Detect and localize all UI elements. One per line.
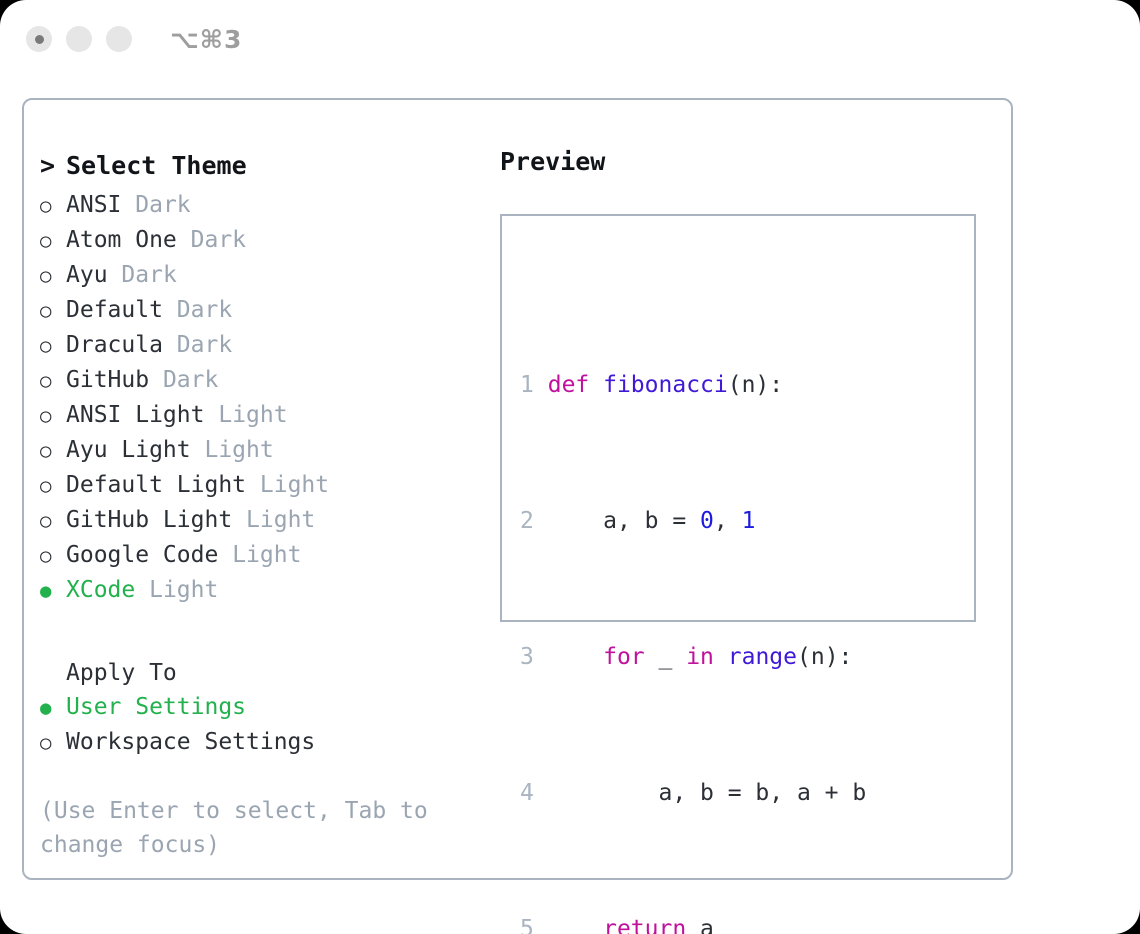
keyboard-hint-line-2: change focus) (40, 828, 440, 862)
radio-selected-icon[interactable]: ● (40, 691, 66, 725)
apply-to-option-label: Workspace Settings (66, 725, 315, 759)
line-gutter-space (534, 780, 548, 806)
code-token: , (714, 508, 742, 534)
main-panel: >Select Theme ○ANSI Dark ○Atom One Dark … (22, 98, 1013, 880)
radio-unselected-icon[interactable]: ○ (40, 504, 66, 538)
section-spacer (40, 608, 500, 656)
title-bar: ⌥⌘3 (0, 0, 1140, 78)
code-token: in (686, 644, 714, 670)
code-token: a, b = (548, 508, 700, 534)
radio-unselected-icon[interactable]: ○ (40, 726, 66, 760)
code-token: 0 (700, 508, 714, 534)
theme-spacer (191, 433, 205, 467)
radio-unselected-icon[interactable]: ○ (40, 399, 66, 433)
code-token (548, 644, 603, 670)
theme-category: Light (246, 503, 315, 537)
theme-category: Light (204, 433, 273, 467)
theme-spacer (246, 468, 260, 502)
window-controls (26, 26, 132, 52)
code-token: 1 (742, 508, 756, 534)
line-gutter-space (534, 916, 548, 934)
code-line: 5 return a (520, 912, 894, 934)
app-window: ⌥⌘3 >Select Theme ○ANSI Dark ○Atom One D… (0, 0, 1140, 934)
radio-unselected-icon[interactable]: ○ (40, 224, 66, 258)
code-token: (n): (728, 372, 783, 398)
code-token: _ (645, 644, 687, 670)
theme-spacer (204, 398, 218, 432)
code-token: a (686, 916, 714, 934)
theme-option-atom-one-dark[interactable]: ○Atom One Dark (40, 223, 500, 258)
theme-name: Dracula (66, 328, 163, 362)
line-gutter-space (534, 508, 548, 534)
theme-spacer (163, 328, 177, 362)
theme-category: Dark (121, 258, 176, 292)
code-token: def (548, 372, 603, 398)
theme-category: Light (260, 468, 329, 502)
theme-spacer (149, 363, 163, 397)
radio-unselected-icon[interactable]: ○ (40, 539, 66, 573)
code-line: 4 a, b = b, a + b (520, 776, 894, 810)
theme-name: ANSI Light (66, 398, 204, 432)
code-line: 3 for _ in range(n): (520, 640, 894, 674)
theme-option-dracula-dark[interactable]: ○Dracula Dark (40, 328, 500, 363)
theme-spacer (218, 538, 232, 572)
theme-option-github-light[interactable]: ○GitHub Light Light (40, 503, 500, 538)
theme-option-ayu-light[interactable]: ○Ayu Light Light (40, 433, 500, 468)
apply-to-option-label: User Settings (66, 690, 246, 724)
theme-option-github-dark[interactable]: ○GitHub Dark (40, 363, 500, 398)
theme-name: Ayu (66, 258, 108, 292)
code-token: range (728, 644, 797, 670)
theme-name: Default Light (66, 468, 246, 502)
radio-unselected-icon[interactable]: ○ (40, 469, 66, 503)
line-number: 4 (520, 780, 534, 806)
radio-unselected-icon[interactable]: ○ (40, 189, 66, 223)
theme-category: Dark (191, 223, 246, 257)
theme-option-xcode[interactable]: ●XCode Light (40, 573, 500, 608)
line-number: 2 (520, 508, 534, 534)
prompt-caret-icon: > (40, 146, 66, 186)
radio-unselected-icon[interactable]: ○ (40, 329, 66, 363)
keyboard-hint-line-1: (Use Enter to select, Tab to (40, 794, 440, 828)
line-gutter-space (534, 644, 548, 670)
radio-unselected-icon[interactable]: ○ (40, 259, 66, 293)
theme-name: ANSI (66, 188, 121, 222)
radio-unselected-icon[interactable]: ○ (40, 364, 66, 398)
radio-unselected-icon[interactable]: ○ (40, 294, 66, 328)
line-number: 5 (520, 916, 534, 934)
theme-spacer (177, 223, 191, 257)
theme-name: Ayu Light (66, 433, 191, 467)
apply-to-title-indent: ○ (40, 656, 66, 690)
theme-category: Dark (177, 293, 232, 327)
code-token: fibonacci (603, 372, 728, 398)
radio-unselected-icon[interactable]: ○ (40, 434, 66, 468)
theme-spacer (121, 188, 135, 222)
line-number: 1 (520, 372, 534, 398)
window-button-close[interactable] (26, 26, 52, 52)
theme-picker-column: >Select Theme ○ANSI Dark ○Atom One Dark … (40, 146, 500, 862)
theme-option-ansi-dark[interactable]: ○ANSI Dark (40, 188, 500, 223)
theme-name: Atom One (66, 223, 177, 257)
theme-name: Google Code (66, 538, 218, 572)
theme-category: Dark (163, 363, 218, 397)
code-token: for (603, 644, 645, 670)
theme-option-default-dark[interactable]: ○Default Dark (40, 293, 500, 328)
theme-name: Default (66, 293, 163, 327)
window-button-maximize[interactable] (106, 26, 132, 52)
theme-category: Dark (135, 188, 190, 222)
apply-to-option-user-settings[interactable]: ●User Settings (40, 690, 500, 725)
preview-title: Preview (500, 146, 1000, 178)
theme-name: GitHub Light (66, 503, 232, 537)
panel-columns: >Select Theme ○ANSI Dark ○Atom One Dark … (24, 100, 1011, 878)
select-theme-header-label: Select Theme (66, 146, 247, 186)
code-token: return (603, 916, 686, 934)
preview-column: Preview 1 def fibonacci(n): 2 a, b = 0, … (500, 146, 1000, 622)
theme-category: Light (232, 538, 301, 572)
apply-to-title-label: Apply To (66, 656, 177, 690)
theme-option-default-light[interactable]: ○Default Light Light (40, 468, 500, 503)
theme-name: XCode (66, 573, 135, 607)
code-token (714, 644, 728, 670)
preview-box: 1 def fibonacci(n): 2 a, b = 0, 1 3 for … (500, 214, 976, 622)
keyboard-shortcut-label: ⌥⌘3 (170, 25, 242, 54)
keyboard-hint: (Use Enter to select, Tab to change focu… (40, 794, 440, 862)
preview-code: 1 def fibonacci(n): 2 a, b = 0, 1 3 for … (520, 266, 894, 934)
window-button-minimize[interactable] (66, 26, 92, 52)
apply-to-option-workspace-settings[interactable]: ○Workspace Settings (40, 725, 500, 760)
code-token: a, b = b, a + b (548, 780, 867, 806)
line-number: 3 (520, 644, 534, 670)
theme-spacer (232, 503, 246, 537)
theme-spacer (108, 258, 122, 292)
radio-selected-icon[interactable]: ● (40, 574, 66, 608)
select-theme-header: >Select Theme (40, 146, 500, 186)
code-line: 1 def fibonacci(n): (520, 368, 894, 402)
theme-option-ayu-dark[interactable]: ○Ayu Dark (40, 258, 500, 293)
hint-spacer (40, 760, 500, 794)
code-line: 2 a, b = 0, 1 (520, 504, 894, 538)
line-gutter-space (534, 372, 548, 398)
code-token (548, 916, 603, 934)
apply-to-title: ○Apply To (40, 656, 500, 690)
theme-category: Dark (177, 328, 232, 362)
theme-spacer (135, 573, 149, 607)
theme-option-google-code[interactable]: ○Google Code Light (40, 538, 500, 573)
theme-spacer (163, 293, 177, 327)
theme-option-ansi-light[interactable]: ○ANSI Light Light (40, 398, 500, 433)
window-button-close-dot (35, 35, 44, 44)
theme-category: Light (149, 573, 218, 607)
theme-category: Light (218, 398, 287, 432)
theme-name: GitHub (66, 363, 149, 397)
code-token: (n): (797, 644, 852, 670)
